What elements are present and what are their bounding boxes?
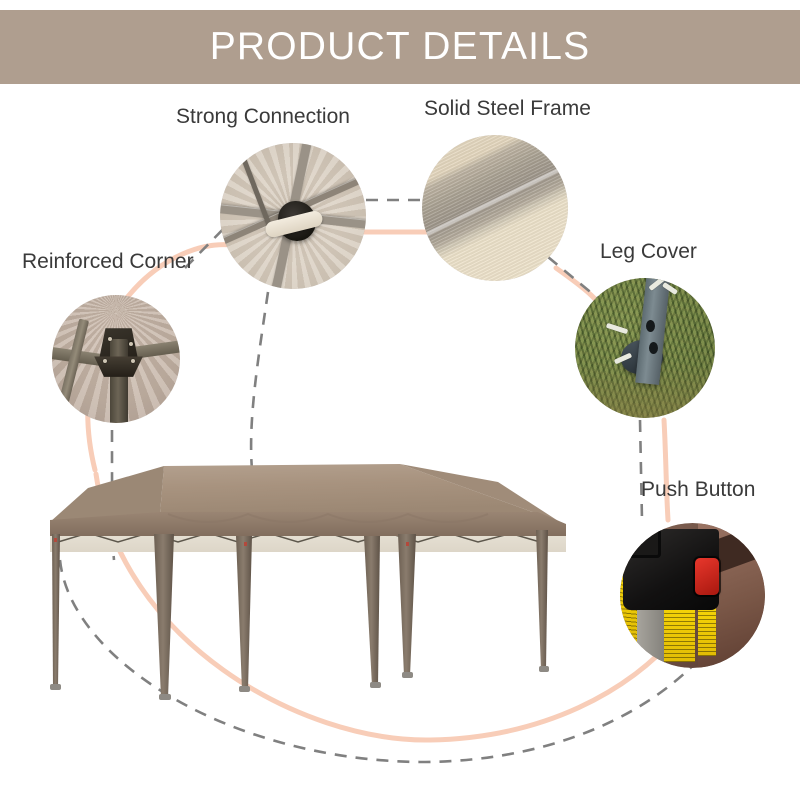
- warning-label-text: [664, 604, 696, 662]
- label-push-button: Push Button: [641, 478, 755, 502]
- label-leg-cover: Leg Cover: [600, 240, 697, 264]
- housing-notch: [629, 526, 661, 558]
- product-details-infographic: PRODUCT DETAILS Strong Connection Solid …: [0, 0, 800, 800]
- leg: [154, 534, 174, 698]
- detail-photo-leg-cover: [575, 278, 715, 418]
- warning-label-text: [698, 607, 715, 656]
- detail-photo-reinforced-corner: [52, 295, 180, 423]
- leg-cover-image: [575, 278, 715, 418]
- canopy-valance: [50, 512, 566, 536]
- red-push-button[interactable]: [695, 558, 718, 596]
- label-strong-connection: Strong Connection: [176, 105, 350, 129]
- label-solid-steel-frame: Solid Steel Frame: [424, 97, 591, 121]
- leg-feet: [50, 666, 549, 700]
- product-photo-gazebo: [28, 452, 588, 710]
- corner-post: [110, 339, 128, 423]
- push-button-image: [620, 523, 765, 668]
- warning-label-center: [664, 604, 696, 662]
- leg: [52, 534, 60, 688]
- strong-connection-image: [220, 143, 366, 289]
- reinforced-corner-image: [52, 295, 180, 423]
- dash-leg-to-push: [640, 420, 642, 520]
- leg: [236, 536, 252, 690]
- detail-photo-push-button: [620, 523, 765, 668]
- arc-leg-to-push: [664, 420, 668, 520]
- fabric-weave-texture: [422, 135, 568, 281]
- leg: [398, 534, 416, 676]
- solid-steel-frame-image: [422, 135, 568, 281]
- leg-tube-gray: [637, 604, 666, 668]
- leg: [536, 530, 548, 670]
- leg: [364, 536, 380, 686]
- dash-connection-drop: [251, 292, 268, 470]
- gazebo-legs: [50, 530, 549, 700]
- detail-photo-strong-connection: [220, 143, 366, 289]
- label-reinforced-corner: Reinforced Corner: [22, 250, 194, 274]
- detail-photo-solid-steel-frame: [422, 135, 568, 281]
- warning-label-right: [698, 607, 715, 656]
